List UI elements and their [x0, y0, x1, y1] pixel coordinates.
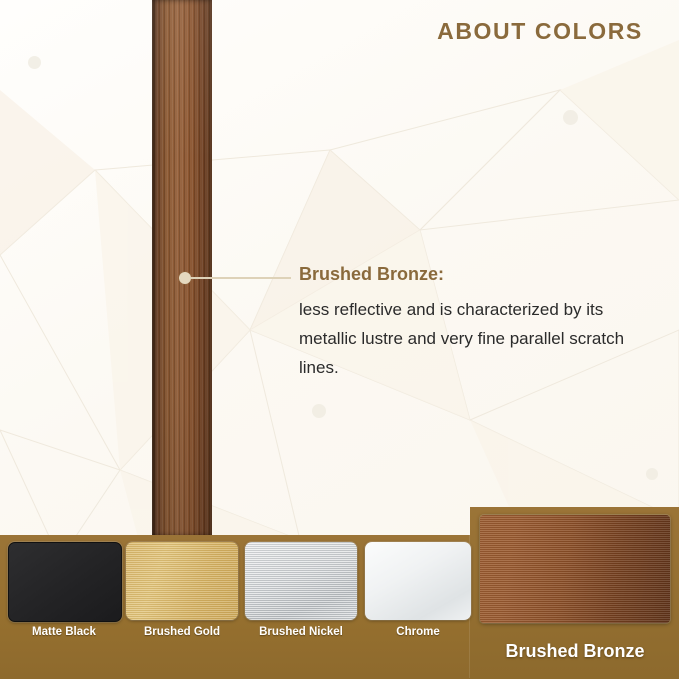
swatch-label-brushed-nickel: Brushed Nickel — [245, 626, 357, 638]
callout-description: less reflective and is characterized by … — [299, 295, 659, 383]
swatch-matte-black[interactable] — [8, 542, 122, 622]
column-sheen — [152, 0, 212, 536]
background-dot — [312, 404, 326, 418]
background-dot — [28, 56, 41, 69]
swatch-label-brushed-bronze: Brushed Bronze — [480, 641, 670, 662]
background-dot — [646, 468, 658, 480]
swatch-brushed-nickel[interactable] — [245, 542, 357, 620]
swatch-brushed-gold[interactable] — [126, 542, 238, 620]
about-colors-infographic: ABOUT COLORS Brushed Bronze: less reflec… — [0, 0, 679, 679]
callout-leader-line — [190, 277, 291, 279]
brushed-bronze-column — [152, 0, 212, 536]
swatch-label-brushed-gold: Brushed Gold — [126, 626, 238, 638]
swatch-label-matte-black: Matte Black — [8, 626, 120, 638]
swatch-label-chrome: Chrome — [365, 626, 471, 638]
background-dot — [563, 110, 578, 125]
callout-block: Brushed Bronze: less reflective and is c… — [299, 264, 659, 382]
swatch-chrome[interactable] — [365, 542, 471, 620]
swatch-brushed-bronze[interactable] — [480, 515, 670, 623]
page-title: ABOUT COLORS — [435, 18, 645, 45]
callout-heading: Brushed Bronze: — [299, 264, 659, 286]
